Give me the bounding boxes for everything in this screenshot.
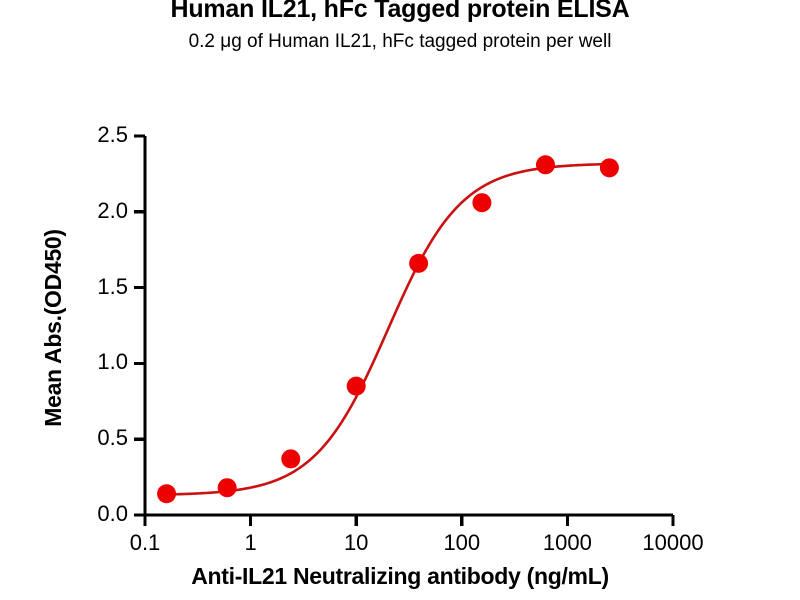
x-axis-tick-label: 10000 <box>613 530 733 556</box>
x-axis-title: Anti-IL21 Neutralizing antibody (ng/mL) <box>0 563 800 590</box>
x-axis-tick-label: 1 <box>191 530 311 556</box>
axes-group <box>134 136 673 526</box>
y-axis-tick-label: 1.5 <box>72 274 128 300</box>
x-axis-tick-label: 0.1 <box>85 530 205 556</box>
x-axis-tick-label: 10 <box>296 530 416 556</box>
y-axis-title: Mean Abs.(OD450) <box>40 0 67 178</box>
fit-curve-group <box>167 164 610 494</box>
data-point-marker <box>347 377 366 396</box>
data-point-marker <box>472 193 491 212</box>
y-axis-tick-label: 2.0 <box>72 198 128 224</box>
data-point-marker <box>157 484 176 503</box>
y-axis-tick-label: 0.0 <box>72 501 128 527</box>
elisa-chart-figure: Human IL21, hFc Tagged protein ELISA 0.2… <box>0 0 800 600</box>
y-axis-title-text: Mean Abs.(OD450) <box>40 178 67 478</box>
y-axis-tick-label: 0.5 <box>72 425 128 451</box>
data-point-marker <box>409 254 428 273</box>
data-point-marker <box>281 449 300 468</box>
y-axis-tick-label: 1.0 <box>72 349 128 375</box>
y-axis-tick-label: 2.5 <box>72 122 128 148</box>
data-point-marker <box>218 478 237 497</box>
fit-curve <box>167 164 610 494</box>
x-axis-tick-label: 100 <box>402 530 522 556</box>
data-point-marker <box>600 158 619 177</box>
x-axis-tick-label: 1000 <box>507 530 627 556</box>
data-point-marker <box>536 155 555 174</box>
